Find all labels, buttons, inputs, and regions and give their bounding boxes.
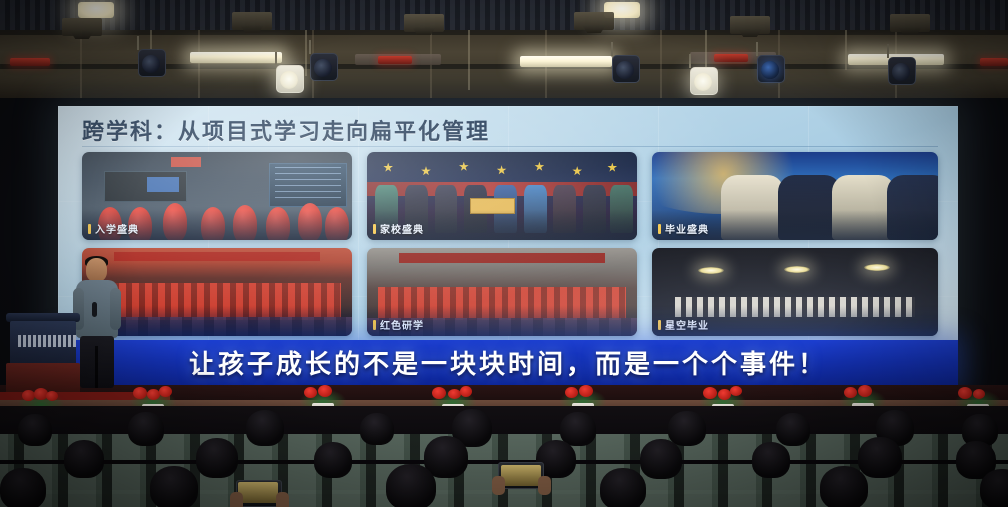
light-fixture [730, 16, 770, 34]
audience-head [196, 438, 238, 478]
audience-head [776, 413, 810, 446]
lectern-control-panel [10, 321, 76, 365]
presenter-legs [80, 336, 114, 388]
presenter [74, 258, 120, 388]
lectern-keyboard [18, 335, 76, 347]
light-fixture [574, 12, 614, 30]
light-fixture [404, 14, 444, 32]
audience-head [820, 466, 868, 507]
red-wash-light [980, 58, 1008, 66]
light-fixture [62, 18, 102, 36]
red-wash-light [714, 54, 748, 62]
audience-head [640, 439, 682, 479]
hand [276, 492, 289, 507]
ceiling-downlight [78, 2, 114, 18]
audience-area [0, 406, 1008, 507]
auditorium-scene: 跨学科：从项目式学习走向扁平化管理 入学盛典 [0, 0, 1008, 507]
audience-head [360, 413, 394, 445]
hand [492, 476, 505, 495]
audience-head [246, 410, 284, 446]
audience-head [858, 437, 902, 478]
audience-head [128, 412, 164, 446]
presenter-head [86, 258, 107, 282]
hand [538, 476, 551, 495]
presenter-arm [110, 288, 121, 330]
light-fixture [232, 12, 272, 30]
banner-text: 让孩子成长的不是一块块时间，而是一个个事件！ [189, 344, 827, 381]
ceiling-slats [0, 0, 1008, 30]
audience-head [18, 414, 52, 446]
light-hanger [305, 30, 307, 76]
audience-head [752, 442, 790, 478]
audience-head [386, 464, 436, 507]
hand [230, 492, 243, 507]
light-hanger [468, 30, 470, 90]
light-fixture [890, 14, 930, 32]
audience-head [600, 468, 646, 507]
audience-head [560, 412, 596, 446]
lectern [6, 313, 80, 391]
audience-head [314, 442, 352, 478]
fluorescent-tube [520, 56, 612, 67]
audience-head [0, 468, 46, 507]
slide-banner: 让孩子成长的不是一块块时间，而是一个个事件！ [58, 340, 958, 385]
microphone [92, 302, 97, 317]
ceiling-lighting-truss [0, 0, 1008, 100]
audience-head [150, 466, 198, 507]
red-wash-light [10, 58, 50, 66]
audience-head [668, 411, 706, 446]
audience-head [980, 469, 1008, 507]
light-hanger [845, 30, 847, 70]
fluorescent-tube [190, 52, 282, 63]
red-wash-light [378, 56, 412, 64]
audience-head [64, 440, 104, 478]
